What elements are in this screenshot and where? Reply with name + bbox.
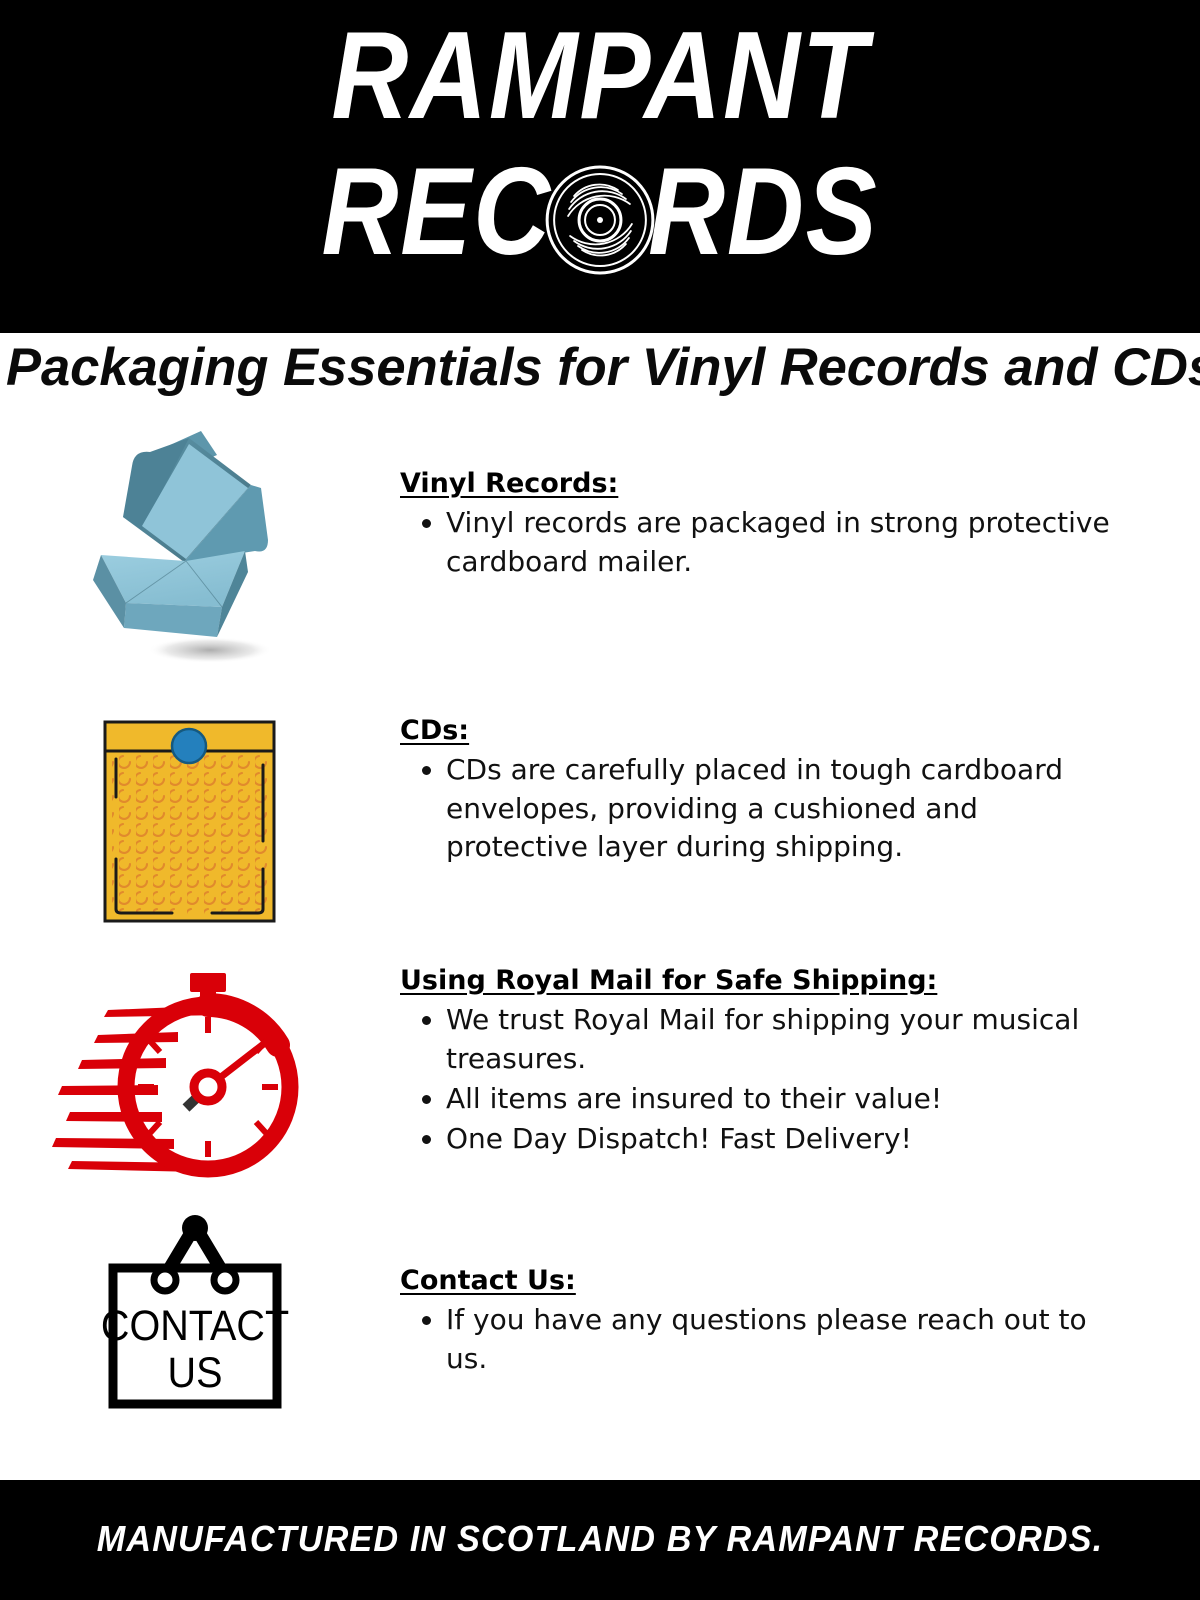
section-heading: Contact Us: xyxy=(400,1265,576,1297)
logo-line-records: REC RDS xyxy=(84,150,1116,276)
footer-band: MANUFACTURED IN SCOTLAND BY RAMPANT RECO… xyxy=(0,1480,1200,1600)
padded-bubble-envelope-icon xyxy=(102,719,277,924)
section-text-column: Using Royal Mail for Safe Shipping: We t… xyxy=(400,965,1200,1161)
fast-stopwatch-icon xyxy=(38,955,308,1195)
section-text-column: CDs: CDs are carefully placed in tough c… xyxy=(400,715,1200,868)
section-vinyl-records: Vinyl Records: Vinyl records are package… xyxy=(0,468,1200,672)
section-heading: Vinyl Records: xyxy=(400,468,618,500)
logo-records-prefix: REC xyxy=(322,150,552,274)
section-bullet-list: We trust Royal Mail for shipping your mu… xyxy=(400,1001,1120,1158)
list-item: We trust Royal Mail for shipping your mu… xyxy=(446,1001,1120,1078)
section-royal-mail-shipping: Using Royal Mail for Safe Shipping: We t… xyxy=(0,965,1200,1195)
section-icon-column xyxy=(0,715,400,924)
section-icon-column: CONTACT US xyxy=(0,1265,400,1410)
page-subtitle: Packaging Essentials for Vinyl Records a… xyxy=(6,340,1194,396)
brand-logo: RAMPANT REC xyxy=(0,0,1200,333)
cardboard-mailer-box-icon xyxy=(62,422,322,672)
section-bullet-list: Vinyl records are packaged in strong pro… xyxy=(400,504,1120,581)
contact-sign-line-1: CONTACT xyxy=(101,1301,289,1349)
list-item: One Day Dispatch! Fast Delivery! xyxy=(446,1120,1120,1158)
section-text-column: Contact Us: If you have any questions pl… xyxy=(400,1265,1200,1380)
section-contact-us: CONTACT US Contact Us: If you have any q… xyxy=(0,1265,1200,1410)
logo-line-rampant: RAMPANT xyxy=(84,14,1116,138)
vinyl-record-icon xyxy=(544,164,656,276)
logo-records-suffix: RDS xyxy=(648,150,878,274)
header-band: RAMPANT REC xyxy=(0,0,1200,333)
list-item: CDs are carefully placed in tough cardbo… xyxy=(446,751,1120,866)
list-item: Vinyl records are packaged in strong pro… xyxy=(446,504,1120,581)
section-text-column: Vinyl Records: Vinyl records are package… xyxy=(400,468,1200,583)
section-bullet-list: If you have any questions please reach o… xyxy=(400,1301,1120,1378)
hanging-contact-us-sign-icon: CONTACT US xyxy=(95,1210,295,1410)
contact-sign-line-2: US xyxy=(168,1348,223,1396)
section-icon-column xyxy=(0,965,400,1195)
section-heading: CDs: xyxy=(400,715,469,747)
section-icon-column xyxy=(0,468,400,672)
list-item: All items are insured to their value! xyxy=(446,1080,1120,1118)
list-item: If you have any questions please reach o… xyxy=(446,1301,1120,1378)
footer-text: MANUFACTURED IN SCOTLAND BY RAMPANT RECO… xyxy=(30,1518,1170,1560)
section-heading: Using Royal Mail for Safe Shipping: xyxy=(400,965,937,997)
section-bullet-list: CDs are carefully placed in tough cardbo… xyxy=(400,751,1120,866)
section-cds: CDs: CDs are carefully placed in tough c… xyxy=(0,715,1200,924)
